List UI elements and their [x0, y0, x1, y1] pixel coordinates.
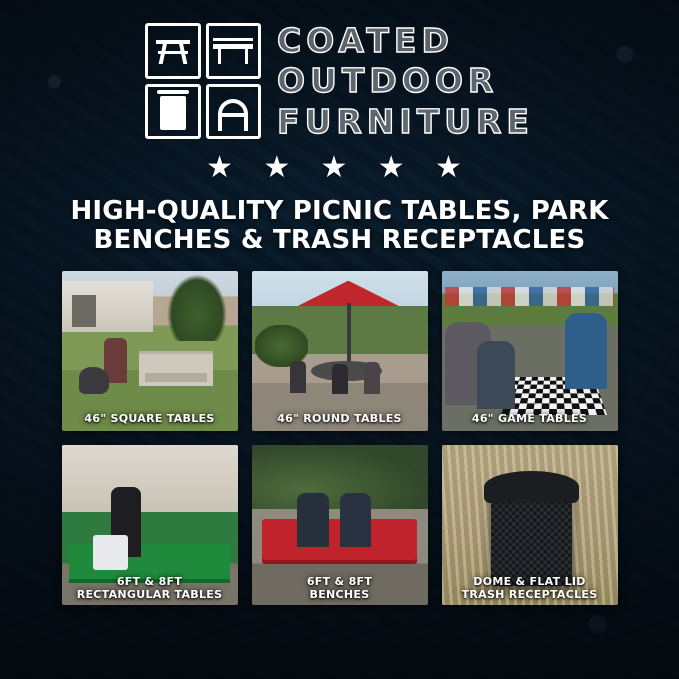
caption-rectangular-tables: 6FT & 8FT RECTANGULAR TABLES: [62, 576, 238, 601]
product-gallery: 46" SQUARE TABLES 46" ROUND TABLES 46" G…: [62, 271, 618, 605]
caption-rectangular-tables-line-2: RECTANGULAR TABLES: [77, 588, 223, 601]
brand-name-line-2: OUTDOOR: [277, 62, 534, 100]
caption-square-tables: 46" SQUARE TABLES: [62, 413, 238, 425]
photo-round-tables: [252, 271, 428, 431]
page-title: HIGH-QUALITY PICNIC TABLES, PARK BENCHES…: [0, 197, 679, 255]
trash-can-icon: [145, 84, 201, 140]
caption-game-tables: 46" GAME TABLES: [442, 413, 618, 425]
gallery-item-trash-receptacles[interactable]: DOME & FLAT LID TRASH RECEPTACLES: [442, 445, 618, 605]
photo-game-tables: [442, 271, 618, 431]
caption-benches: 6FT & 8FT BENCHES: [252, 576, 428, 601]
star-rating: ★ ★ ★ ★ ★: [0, 153, 679, 183]
gallery-item-game-tables[interactable]: 46" GAME TABLES: [442, 271, 618, 431]
gallery-item-rectangular-tables[interactable]: 6FT & 8FT RECTANGULAR TABLES: [62, 445, 238, 605]
caption-rectangular-tables-line-1: 6FT & 8FT: [117, 575, 182, 588]
headline-line-1: HIGH-QUALITY PICNIC TABLES, PARK: [26, 197, 653, 226]
caption-round-tables: 46" ROUND TABLES: [252, 413, 428, 425]
bench-icon: [206, 23, 262, 79]
photo-square-tables: [62, 271, 238, 431]
headline-line-2: BENCHES & TRASH RECEPTACLES: [26, 226, 653, 255]
picnic-table-icon: [145, 23, 201, 79]
brand-name-line-1: COATED: [277, 22, 534, 60]
gallery-item-benches[interactable]: 6FT & 8FT BENCHES: [252, 445, 428, 605]
brand-logo: COATED OUTDOOR FURNITURE: [0, 0, 679, 141]
caption-benches-line-1: 6FT & 8FT: [307, 575, 372, 588]
gallery-item-round-tables[interactable]: 46" ROUND TABLES: [252, 271, 428, 431]
brand-name-line-3: FURNITURE: [277, 103, 534, 141]
gallery-item-square-tables[interactable]: 46" SQUARE TABLES: [62, 271, 238, 431]
brand-wordmark: COATED OUTDOOR FURNITURE: [277, 22, 534, 141]
dome-receptacle-icon: [206, 84, 262, 140]
caption-benches-line-2: BENCHES: [310, 588, 370, 601]
caption-trash-receptacles-line-2: TRASH RECEPTACLES: [462, 588, 598, 601]
product-banner: COATED OUTDOOR FURNITURE ★ ★ ★ ★ ★ HIGH-…: [0, 0, 679, 679]
logo-mark: [145, 23, 261, 139]
caption-trash-receptacles-line-1: DOME & FLAT LID: [473, 575, 585, 588]
caption-trash-receptacles: DOME & FLAT LID TRASH RECEPTACLES: [442, 576, 618, 601]
